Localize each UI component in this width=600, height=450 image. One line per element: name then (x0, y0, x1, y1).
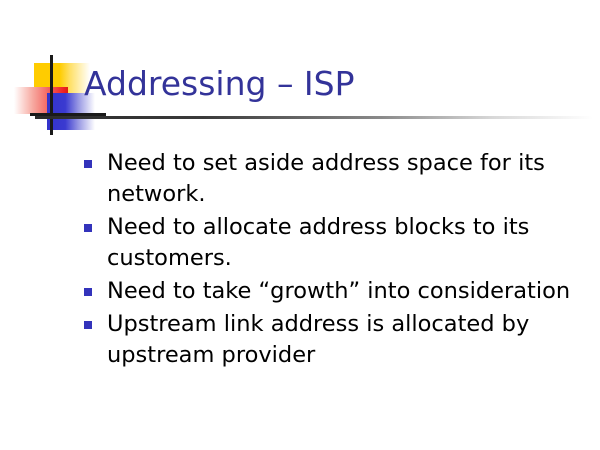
list-item: Need to set aside address space for its … (84, 148, 584, 210)
square-bullet-icon (84, 160, 92, 168)
list-item-text: Need to set aside address space for its … (107, 150, 545, 207)
square-bullet-icon (84, 224, 92, 232)
decorative-logo-mark (14, 55, 94, 135)
square-bullet-icon (84, 288, 92, 296)
list-item-text: Need to allocate address blocks to its c… (107, 214, 529, 271)
slide-title: Addressing – ISP (84, 64, 355, 104)
list-item-text: Upstream link address is allocated by up… (107, 311, 529, 368)
list-item: Need to allocate address blocks to its c… (84, 212, 584, 274)
logo-vertical-line (50, 55, 53, 135)
square-bullet-icon (84, 321, 92, 329)
bullet-list: Need to set aside address space for its … (84, 148, 584, 373)
list-item: Need to take “growth” into consideration (84, 276, 584, 307)
list-item: Upstream link address is allocated by up… (84, 309, 584, 371)
presentation-slide: Addressing – ISP Need to set aside addre… (0, 0, 600, 450)
title-divider (35, 116, 593, 119)
list-item-text: Need to take “growth” into consideration (107, 278, 570, 304)
